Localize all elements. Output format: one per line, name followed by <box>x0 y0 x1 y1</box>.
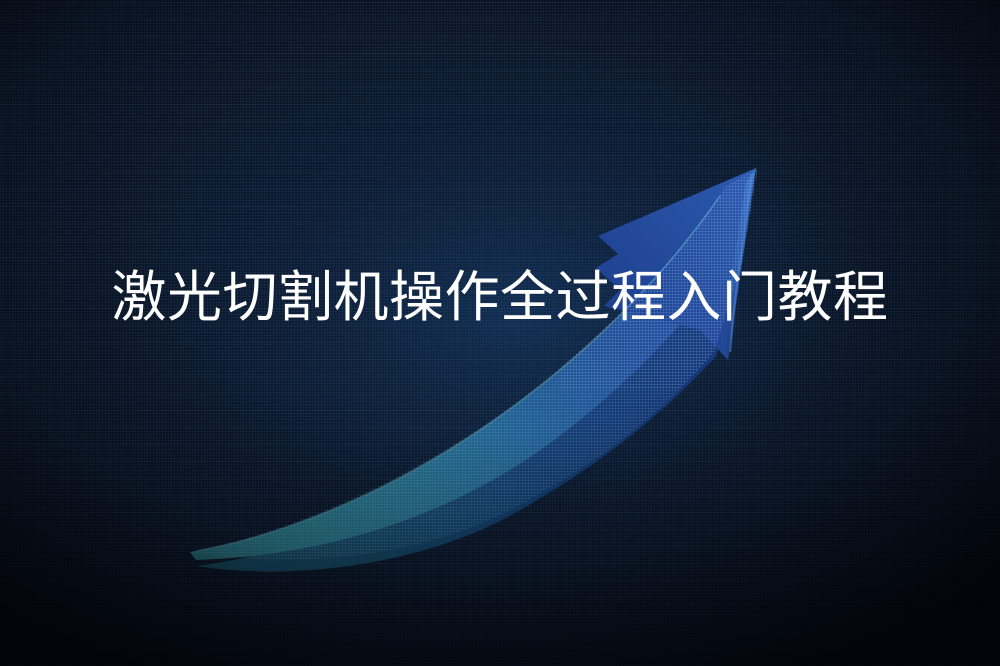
banner-image: 激光切割机操作全过程入门教程 <box>0 0 1000 666</box>
rising-arrow-graphic <box>0 0 1000 666</box>
